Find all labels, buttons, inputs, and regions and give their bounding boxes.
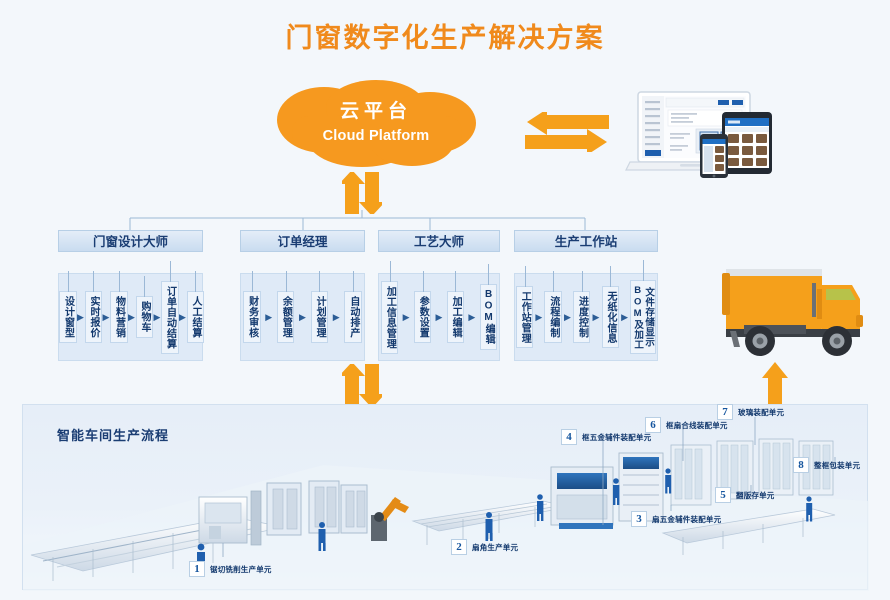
callout-label: 框五金辅件装配单元 [582, 432, 651, 443]
module-item-chip[interactable]: 参数设置 [414, 291, 432, 343]
callout-3[interactable]: 3 扇五金辅件装配单元 [631, 511, 721, 527]
module-item-chip[interactable]: 计划管理 [311, 291, 329, 343]
chevron-right-icon: ▶ [298, 313, 306, 322]
callout-8[interactable]: 8 整框包装单元 [793, 457, 860, 473]
cloud-modules-arrow-pair [342, 172, 382, 214]
modules-floor-arrow-pair [342, 364, 382, 406]
module-title: 门窗设计大师 [58, 230, 203, 252]
module-item-chip[interactable]: 无纸化信息 [602, 286, 620, 349]
module-item-chip[interactable]: 购物车 [136, 296, 154, 338]
callout-label: 整框包装单元 [814, 460, 860, 471]
chevron-right-icon: ▶ [535, 313, 543, 322]
callout-label: 框扇合线装配单元 [666, 420, 728, 431]
module-title: 生产工作站 [514, 230, 658, 252]
callout-1[interactable]: 1 锯切铣削生产单元 [189, 561, 272, 577]
chevron-right-icon: ▶ [153, 313, 161, 322]
callout-number: 8 [793, 457, 809, 473]
module-item-chip[interactable]: 余额管理 [277, 291, 295, 343]
delivery-truck-illustration [700, 255, 882, 363]
cloud-icon [262, 78, 490, 170]
double-arrow-vertical-icon [342, 172, 382, 214]
module-item-chip[interactable]: 订单自动结算 [161, 281, 179, 354]
module-item-chip[interactable]: BOM编辑 [480, 284, 498, 350]
module-items: 财务审核 ▶ 余额管理 ▶ 计划管理 ▶ 自动排产 [240, 273, 365, 361]
module-items: 加工信息管理 ▶ 参数设置 ▶ 加工编辑 ▶ BOM编辑 [378, 273, 500, 361]
module-item-chip[interactable]: 人工结算 [187, 291, 205, 343]
module-design-master[interactable]: 门窗设计大师 设计窗型 ▶ 实时报价 ▶ 物料营销 ▶ 购物车 ▶ 订单自动结算… [58, 230, 203, 361]
chevron-right-icon: ▶ [435, 313, 443, 322]
module-items: 工作站管理 ▶ 流程编制 ▶ 进度控制 ▶ 无纸化信息 ▶ BOM及加工 文件存… [514, 273, 658, 361]
callout-6[interactable]: 6 框扇合线装配单元 [645, 417, 728, 433]
callout-4[interactable]: 4 框五金辅件装配单元 [561, 429, 651, 445]
callout-label: 玻璃装配单元 [738, 407, 784, 418]
chevron-right-icon: ▶ [77, 313, 85, 322]
module-order-manager[interactable]: 订单经理 财务审核 ▶ 余额管理 ▶ 计划管理 ▶ 自动排产 [240, 230, 365, 361]
devices-illustration [622, 84, 788, 178]
chevron-right-icon: ▶ [128, 313, 136, 322]
chevron-right-icon: ▶ [468, 313, 476, 322]
module-item-chip[interactable]: 加工信息管理 [381, 281, 399, 354]
callout-number: 4 [561, 429, 577, 445]
cloud-devices-arrow-pair [525, 112, 609, 152]
callout-number: 6 [645, 417, 661, 433]
callout-label: 扇角生产单元 [472, 542, 518, 553]
chevron-right-icon: ▶ [563, 313, 571, 322]
page-title: 门窗数字化生产解决方案 [0, 16, 890, 55]
chevron-right-icon: ▶ [102, 313, 110, 322]
cloud-platform-node[interactable]: 云平台 Cloud Platform [262, 78, 490, 170]
module-item-chip[interactable]: 自动排产 [344, 291, 362, 343]
module-item-chip-dual[interactable]: BOM及加工 文件存储显示 [630, 280, 656, 355]
callout-number: 5 [715, 487, 731, 503]
callout-2[interactable]: 2 扇角生产单元 [451, 539, 518, 555]
solution-diagram-page: 门窗数字化生产解决方案 云平台 Cloud Platform [0, 0, 890, 600]
callout-label: 扇五金辅件装配单元 [652, 514, 721, 525]
module-item-chip[interactable]: 财务审核 [243, 291, 261, 343]
module-item-chip[interactable]: 进度控制 [573, 291, 591, 343]
module-item-chip[interactable]: 实时报价 [85, 291, 103, 343]
floor-truck-arrow [762, 362, 788, 408]
module-item-chip[interactable]: 工作站管理 [516, 286, 534, 349]
module-title: 订单经理 [240, 230, 365, 252]
callout-number: 1 [189, 561, 205, 577]
module-process-master[interactable]: 工艺大师 加工信息管理 ▶ 参数设置 ▶ 加工编辑 ▶ BOM编辑 [378, 230, 500, 361]
module-item-chip[interactable]: 加工编辑 [447, 291, 465, 343]
module-item-chip[interactable]: 物料营销 [110, 291, 128, 343]
smart-workshop-panel: 智能车间生产流程 [22, 404, 868, 590]
callout-label: 翻版存单元 [736, 490, 775, 501]
chevron-right-icon: ▶ [179, 313, 187, 322]
chevron-right-icon: ▶ [621, 313, 629, 322]
module-item-chip[interactable]: 设计窗型 [59, 291, 77, 343]
double-arrow-horizontal-icon [525, 112, 609, 152]
chevron-right-icon: ▶ [592, 313, 600, 322]
callout-label: 锯切铣削生产单元 [210, 564, 272, 575]
callout-number: 3 [631, 511, 647, 527]
module-production-workstation[interactable]: 生产工作站 工作站管理 ▶ 流程编制 ▶ 进度控制 ▶ 无纸化信息 ▶ BOM及… [514, 230, 658, 361]
module-item-chip[interactable]: 流程编制 [544, 291, 562, 343]
callout-number: 2 [451, 539, 467, 555]
chevron-right-icon: ▶ [265, 313, 273, 322]
dual-label-file: 文件存储显示 [643, 287, 654, 347]
chevron-right-icon: ▶ [402, 313, 410, 322]
double-arrow-vertical-icon [342, 364, 382, 406]
module-title: 工艺大师 [378, 230, 500, 252]
chevron-right-icon: ▶ [332, 313, 340, 322]
arrow-up-icon [762, 362, 788, 408]
truck-icon [700, 255, 882, 363]
callout-number: 7 [717, 404, 733, 420]
laptop-tablet-phone-icon [622, 84, 788, 178]
dual-label-bom: BOM及加工 [632, 285, 643, 350]
callout-5[interactable]: 5 翻版存单元 [715, 487, 775, 503]
callout-7[interactable]: 7 玻璃装配单元 [717, 404, 784, 420]
module-items: 设计窗型 ▶ 实时报价 ▶ 物料营销 ▶ 购物车 ▶ 订单自动结算 ▶ 人工结算 [58, 273, 203, 361]
